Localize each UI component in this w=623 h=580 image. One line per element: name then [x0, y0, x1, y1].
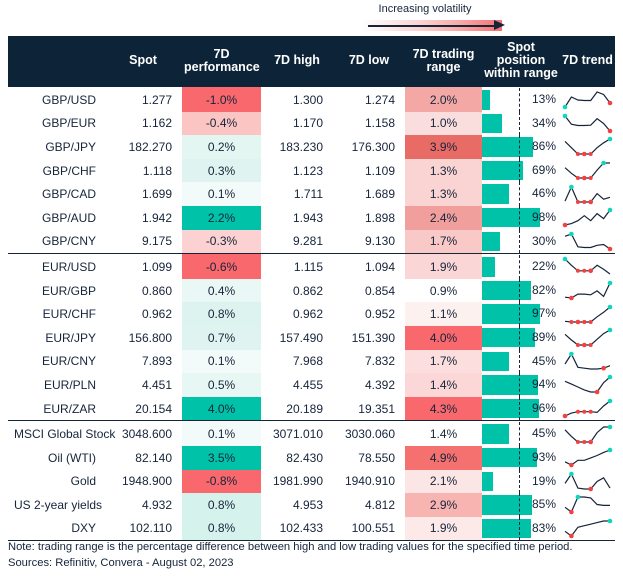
- cell-spot-position: 85%: [482, 493, 560, 517]
- cell-7d-high: 102.433: [261, 517, 333, 541]
- cell-performance: 0.1%: [182, 421, 261, 446]
- midpoint-divider: [519, 159, 520, 183]
- cell-performance: 3.5%: [182, 446, 261, 470]
- sparkline-icon: [562, 136, 613, 157]
- spot-position-label: 45%: [532, 350, 556, 374]
- cell-spot-position: 19%: [482, 470, 560, 494]
- midpoint-divider: [519, 279, 520, 303]
- row-label: GBP/CHF: [8, 159, 104, 183]
- sparkline-icon: [562, 207, 613, 228]
- cell-7d-high: 1.300: [261, 86, 333, 112]
- cell-spot-position: 83%: [482, 517, 560, 541]
- cell-spot-position: 96%: [482, 397, 560, 421]
- cell-spot: 20.154: [104, 397, 182, 421]
- row-label: GBP/CNY: [8, 230, 104, 254]
- cell-7d-low: 1940.910: [333, 470, 405, 494]
- cell-performance: 4.0%: [182, 397, 261, 421]
- column-header-name: [8, 36, 104, 86]
- cell-performance: 2.2%: [182, 206, 261, 230]
- cell-7d-trend: [560, 254, 615, 279]
- cell-performance: 0.7%: [182, 326, 261, 350]
- cell-7d-trend: [560, 135, 615, 159]
- cell-7d-trend: [560, 350, 615, 374]
- footnote-note: Note: trading range is the percentage di…: [8, 540, 618, 556]
- cell-7d-low: 1.158: [333, 112, 405, 136]
- cell-trading-range: 1.0%: [405, 112, 482, 136]
- cell-7d-high: 7.968: [261, 350, 333, 374]
- spot-position-label: 30%: [532, 230, 556, 254]
- cell-spot: 1.942: [104, 206, 182, 230]
- cell-7d-high: 157.490: [261, 326, 333, 350]
- cell-7d-high: 1.711: [261, 182, 333, 206]
- midpoint-divider: [519, 350, 520, 374]
- cell-7d-trend: [560, 421, 615, 446]
- cell-7d-high: 4.953: [261, 493, 333, 517]
- cell-performance: 0.8%: [182, 517, 261, 541]
- spot-position-label: 45%: [532, 422, 556, 446]
- cell-7d-low: 3030.060: [333, 421, 405, 446]
- column-header-spot: Spot: [104, 36, 182, 86]
- midpoint-divider: [519, 517, 520, 541]
- cell-7d-high: 0.862: [261, 279, 333, 303]
- cell-7d-low: 4.392: [333, 373, 405, 397]
- spot-position-bar: [482, 448, 537, 468]
- cell-7d-high: 82.430: [261, 446, 333, 470]
- midpoint-divider: [519, 135, 520, 159]
- spot-position-bar-wrap: 96%: [482, 397, 560, 421]
- cell-spot: 7.893: [104, 350, 182, 374]
- volatility-axis-line: [368, 25, 498, 27]
- spot-position-label: 13%: [532, 88, 556, 112]
- sparkline-icon: [562, 280, 613, 301]
- spot-position-label: 22%: [532, 255, 556, 279]
- column-header-low: 7D low: [333, 36, 405, 86]
- spot-position-label: 82%: [532, 279, 556, 303]
- spot-position-bar: [482, 424, 509, 444]
- spot-position-bar: [482, 281, 531, 301]
- spot-position-bar: [482, 184, 509, 204]
- cell-7d-trend: [560, 159, 615, 183]
- cell-spot-position: 22%: [482, 254, 560, 279]
- cell-performance: -0.3%: [182, 230, 261, 254]
- table-row[interactable]: Gold 1948.900 -0.8% 1981.990 1940.910 2.…: [8, 470, 615, 494]
- spot-position-bar-wrap: 19%: [482, 470, 560, 494]
- row-label: EUR/PLN: [8, 373, 104, 397]
- cell-spot: 4.932: [104, 493, 182, 517]
- spot-position-bar-wrap: 98%: [482, 206, 560, 230]
- spot-position-bar: [482, 399, 539, 419]
- cell-7d-low: 100.551: [333, 517, 405, 541]
- cell-7d-low: 0.952: [333, 302, 405, 326]
- spot-position-bar: [482, 328, 535, 348]
- arrow-right-icon: [494, 20, 505, 30]
- cell-spot-position: 45%: [482, 421, 560, 446]
- cell-trading-range: 1.7%: [405, 350, 482, 374]
- row-label: EUR/JPY: [8, 326, 104, 350]
- cell-performance: -0.4%: [182, 112, 261, 136]
- cell-performance: 0.1%: [182, 182, 261, 206]
- cell-7d-trend: [560, 326, 615, 350]
- table-row[interactable]: GBP/AUD 1.942 2.2% 1.943 1.898 2.4% 98%: [8, 206, 615, 230]
- cell-spot-position: 97%: [482, 302, 560, 326]
- cell-performance: -1.0%: [182, 86, 261, 112]
- cell-spot: 156.800: [104, 326, 182, 350]
- spot-position-bar: [482, 114, 502, 134]
- cell-trading-range: 1.7%: [405, 230, 482, 254]
- sparkline-icon: [562, 351, 613, 372]
- spot-position-label: 85%: [532, 493, 556, 517]
- cell-spot: 1.118: [104, 159, 182, 183]
- cell-spot: 1.699: [104, 182, 182, 206]
- column-header-performance: 7D performance: [182, 36, 261, 86]
- table-row[interactable]: EUR/USD 1.099 -0.6% 1.115 1.094 1.9% 22%: [8, 254, 615, 279]
- cell-7d-low: 78.550: [333, 446, 405, 470]
- spot-position-label: 98%: [532, 206, 556, 230]
- table-row[interactable]: EUR/JPY 156.800 0.7% 157.490 151.390 4.0…: [8, 326, 615, 350]
- cell-performance: 0.8%: [182, 493, 261, 517]
- sparkline-icon: [562, 304, 613, 325]
- spot-position-label: 83%: [532, 517, 556, 541]
- spot-position-bar-wrap: 93%: [482, 446, 560, 470]
- midpoint-divider: [519, 182, 520, 206]
- cell-trading-range: 1.1%: [405, 302, 482, 326]
- spot-position-bar: [482, 232, 500, 252]
- spot-position-bar-wrap: 83%: [482, 517, 560, 541]
- spot-position-label: 94%: [532, 373, 556, 397]
- cell-7d-high: 4.455: [261, 373, 333, 397]
- cell-spot-position: 45%: [482, 350, 560, 374]
- volatility-legend-bar: [330, 19, 520, 31]
- midpoint-divider: [519, 112, 520, 136]
- table-section-indices-commodities: MSCI Global Stock 3048.600 0.1% 3071.010…: [8, 421, 615, 541]
- column-header-trend: 7D trend: [560, 36, 615, 86]
- spot-position-label: 34%: [532, 112, 556, 136]
- row-label: GBP/EUR: [8, 112, 104, 136]
- spot-position-bar-wrap: 82%: [482, 279, 560, 303]
- spot-position-bar: [482, 257, 495, 277]
- cell-performance: 0.8%: [182, 302, 261, 326]
- cell-spot-position: 94%: [482, 373, 560, 397]
- cell-performance: 0.1%: [182, 350, 261, 374]
- cell-performance: -0.8%: [182, 470, 261, 494]
- table-row[interactable]: EUR/CNY 7.893 0.1% 7.968 7.832 1.7% 45%: [8, 350, 615, 374]
- cell-7d-low: 1.898: [333, 206, 405, 230]
- cell-spot: 1.099: [104, 254, 182, 279]
- cell-7d-trend: [560, 446, 615, 470]
- cell-performance: 0.4%: [182, 279, 261, 303]
- cell-trading-range: 3.9%: [405, 135, 482, 159]
- row-label: EUR/USD: [8, 254, 104, 279]
- cell-7d-trend: [560, 373, 615, 397]
- cell-7d-trend: [560, 279, 615, 303]
- cell-performance: 0.5%: [182, 373, 261, 397]
- cell-spot: 102.110: [104, 517, 182, 541]
- cell-7d-low: 176.300: [333, 135, 405, 159]
- table-header: Spot 7D performance 7D high 7D low 7D tr…: [8, 36, 615, 86]
- column-header-trading-range: 7D trading range: [405, 36, 482, 86]
- midpoint-divider: [519, 302, 520, 326]
- spot-position-label: 69%: [532, 159, 556, 183]
- spot-position-label: 89%: [532, 326, 556, 350]
- midpoint-divider: [519, 88, 520, 112]
- table-row[interactable]: GBP/CAD 1.699 0.1% 1.711 1.689 1.3% 46%: [8, 182, 615, 206]
- midpoint-divider: [519, 397, 520, 421]
- cell-spot: 1.162: [104, 112, 182, 136]
- cell-7d-high: 1.170: [261, 112, 333, 136]
- spot-position-label: 97%: [532, 302, 556, 326]
- spot-position-bar: [482, 472, 493, 492]
- sparkline-icon: [562, 398, 613, 419]
- spot-position-bar-wrap: 13%: [482, 88, 560, 112]
- cell-spot: 3048.600: [104, 421, 182, 446]
- cell-7d-trend: [560, 230, 615, 254]
- cell-7d-low: 4.812: [333, 493, 405, 517]
- cell-trading-range: 1.4%: [405, 421, 482, 446]
- cell-7d-low: 19.351: [333, 397, 405, 421]
- cell-7d-trend: [560, 182, 615, 206]
- cell-7d-high: 0.962: [261, 302, 333, 326]
- cell-spot: 4.451: [104, 373, 182, 397]
- cell-7d-trend: [560, 517, 615, 541]
- sparkline-icon: [562, 327, 613, 348]
- sparkline-icon: [562, 374, 613, 395]
- cell-7d-high: 20.189: [261, 397, 333, 421]
- cell-7d-low: 151.390: [333, 326, 405, 350]
- cell-7d-trend: [560, 397, 615, 421]
- cell-spot: 1948.900: [104, 470, 182, 494]
- spot-position-bar-wrap: 46%: [482, 182, 560, 206]
- cell-7d-low: 9.130: [333, 230, 405, 254]
- table-row[interactable]: GBP/CNY 9.175 -0.3% 9.281 9.130 1.7% 30%: [8, 230, 615, 254]
- cell-trading-range: 2.9%: [405, 493, 482, 517]
- row-label: EUR/CNY: [8, 350, 104, 374]
- row-label: GBP/USD: [8, 86, 104, 112]
- sparkline-icon: [562, 471, 613, 492]
- sparkline-icon: [562, 424, 613, 445]
- cell-trading-range: 1.4%: [405, 373, 482, 397]
- cell-7d-high: 3071.010: [261, 421, 333, 446]
- table-row[interactable]: GBP/USD 1.277 -1.0% 1.300 1.274 2.0% 13%: [8, 86, 615, 112]
- cell-spot: 0.962: [104, 302, 182, 326]
- cell-7d-low: 1.094: [333, 254, 405, 279]
- table-row[interactable]: EUR/GBP 0.860 0.4% 0.862 0.854 0.9% 82%: [8, 279, 615, 303]
- row-label: EUR/CHF: [8, 302, 104, 326]
- midpoint-divider: [519, 422, 520, 446]
- cell-spot-position: 13%: [482, 86, 560, 112]
- cell-spot: 0.860: [104, 279, 182, 303]
- spot-position-bar: [482, 519, 531, 539]
- cell-spot-position: 69%: [482, 159, 560, 183]
- cell-spot: 9.175: [104, 230, 182, 254]
- sparkline-icon: [562, 160, 613, 181]
- spot-position-bar-wrap: 94%: [482, 373, 560, 397]
- spot-position-bar-wrap: 34%: [482, 112, 560, 136]
- midpoint-divider: [519, 206, 520, 230]
- midpoint-divider: [519, 470, 520, 494]
- table-row[interactable]: US 2-year yields 4.932 0.8% 4.953 4.812 …: [8, 493, 615, 517]
- cell-trading-range: 0.9%: [405, 279, 482, 303]
- spot-position-bar: [482, 137, 533, 157]
- cell-7d-low: 0.854: [333, 279, 405, 303]
- spot-position-bar-wrap: 85%: [482, 493, 560, 517]
- cell-spot: 182.270: [104, 135, 182, 159]
- cell-performance: -0.6%: [182, 254, 261, 279]
- cell-7d-high: 1.943: [261, 206, 333, 230]
- spot-position-bar-wrap: 69%: [482, 159, 560, 183]
- cell-spot-position: 46%: [482, 182, 560, 206]
- column-header-high: 7D high: [261, 36, 333, 86]
- table-row[interactable]: DXY 102.110 0.8% 102.433 100.551 1.9% 83…: [8, 517, 615, 541]
- table-row[interactable]: EUR/ZAR 20.154 4.0% 20.189 19.351 4.3% 9…: [8, 397, 615, 421]
- cell-7d-trend: [560, 112, 615, 136]
- row-label: GBP/AUD: [8, 206, 104, 230]
- table-row[interactable]: MSCI Global Stock 3048.600 0.1% 3071.010…: [8, 421, 615, 446]
- spot-position-bar-wrap: 22%: [482, 255, 560, 279]
- sparkline-icon: [562, 113, 613, 134]
- table-row[interactable]: EUR/PLN 4.451 0.5% 4.455 4.392 1.4% 94%: [8, 373, 615, 397]
- spot-position-label: 96%: [532, 397, 556, 421]
- spot-position-bar-wrap: 97%: [482, 302, 560, 326]
- cell-spot-position: 34%: [482, 112, 560, 136]
- footnote-sources: Sources: Refinitiv, Convera - August 02,…: [8, 556, 618, 572]
- cell-trading-range: 1.9%: [405, 254, 482, 279]
- spot-position-bar-wrap: 89%: [482, 326, 560, 350]
- cell-spot: 82.140: [104, 446, 182, 470]
- cell-spot-position: 93%: [482, 446, 560, 470]
- midpoint-divider: [519, 255, 520, 279]
- row-label: US 2-year yields: [8, 493, 104, 517]
- table-row[interactable]: EUR/CHF 0.962 0.8% 0.962 0.952 1.1% 97%: [8, 302, 615, 326]
- footnotes: Note: trading range is the percentage di…: [8, 540, 618, 571]
- cell-7d-high: 9.281: [261, 230, 333, 254]
- sparkline-icon: [562, 256, 613, 277]
- cell-spot-position: 89%: [482, 326, 560, 350]
- spot-position-label: 46%: [532, 182, 556, 206]
- row-label: EUR/ZAR: [8, 397, 104, 421]
- table-row[interactable]: GBP/EUR 1.162 -0.4% 1.170 1.158 1.0% 34%: [8, 112, 615, 136]
- midpoint-divider: [519, 230, 520, 254]
- cell-7d-trend: [560, 86, 615, 112]
- cell-7d-high: 183.230: [261, 135, 333, 159]
- cell-trading-range: 1.3%: [405, 159, 482, 183]
- row-label: Gold: [8, 470, 104, 494]
- cell-7d-low: 1.109: [333, 159, 405, 183]
- cell-trading-range: 2.4%: [405, 206, 482, 230]
- spot-position-label: 93%: [532, 446, 556, 470]
- spot-position-bar-wrap: 45%: [482, 350, 560, 374]
- row-label: DXY: [8, 517, 104, 541]
- cell-trading-range: 2.0%: [405, 86, 482, 112]
- cell-spot-position: 98%: [482, 206, 560, 230]
- cell-7d-low: 1.274: [333, 86, 405, 112]
- spot-position-bar-wrap: 45%: [482, 422, 560, 446]
- cell-7d-trend: [560, 302, 615, 326]
- sparkline-icon: [562, 494, 613, 515]
- row-label: GBP/JPY: [8, 135, 104, 159]
- midpoint-divider: [519, 446, 520, 470]
- cell-7d-high: 1981.990: [261, 470, 333, 494]
- volatility-legend: Increasing volatility: [330, 2, 520, 34]
- cell-7d-high: 1.123: [261, 159, 333, 183]
- cell-trading-range: 4.9%: [405, 446, 482, 470]
- cell-7d-high: 1.115: [261, 254, 333, 279]
- spot-position-bar: [482, 304, 540, 324]
- row-label: GBP/CAD: [8, 182, 104, 206]
- cell-7d-trend: [560, 206, 615, 230]
- midpoint-divider: [519, 373, 520, 397]
- midpoint-divider: [519, 493, 520, 517]
- cell-7d-trend: [560, 493, 615, 517]
- sparkline-icon: [562, 184, 613, 205]
- cell-trading-range: 1.3%: [405, 182, 482, 206]
- sparkline-icon: [562, 518, 613, 539]
- midpoint-divider: [519, 326, 520, 350]
- sparkline-icon: [562, 231, 613, 252]
- spot-position-bar: [482, 352, 509, 372]
- table-header-row: Spot 7D performance 7D high 7D low 7D tr…: [8, 36, 615, 86]
- cell-trading-range: 4.0%: [405, 326, 482, 350]
- spot-position-label: 86%: [532, 135, 556, 159]
- spot-position-label: 19%: [532, 470, 556, 494]
- spot-position-bar: [482, 375, 538, 395]
- spot-position-bar-wrap: 30%: [482, 230, 560, 254]
- spot-position-bar: [482, 90, 490, 110]
- sparkline-icon: [562, 447, 613, 468]
- cell-7d-low: 1.689: [333, 182, 405, 206]
- cell-trading-range: 1.9%: [405, 517, 482, 541]
- row-label: MSCI Global Stock: [8, 421, 104, 446]
- cell-trading-range: 2.1%: [405, 470, 482, 494]
- table-row[interactable]: Oil (WTI) 82.140 3.5% 82.430 78.550 4.9%…: [8, 446, 615, 470]
- spot-position-bar-wrap: 86%: [482, 135, 560, 159]
- cell-spot: 1.277: [104, 86, 182, 112]
- spot-position-bar: [482, 161, 523, 181]
- market-data-table: Spot 7D performance 7D high 7D low 7D tr…: [8, 36, 615, 541]
- table-row[interactable]: GBP/CHF 1.118 0.3% 1.123 1.109 1.3% 69%: [8, 159, 615, 183]
- column-header-spot-position: Spot position within range: [482, 36, 560, 86]
- volatility-legend-label: Increasing volatility: [330, 2, 520, 16]
- table-row[interactable]: GBP/JPY 182.270 0.2% 183.230 176.300 3.9…: [8, 135, 615, 159]
- cell-7d-low: 7.832: [333, 350, 405, 374]
- cell-trading-range: 4.3%: [405, 397, 482, 421]
- sparkline-icon: [562, 89, 613, 110]
- table-section-gbp-pairs: GBP/USD 1.277 -1.0% 1.300 1.274 2.0% 13%…: [8, 86, 615, 254]
- table-section-eur-pairs: EUR/USD 1.099 -0.6% 1.115 1.094 1.9% 22%…: [8, 254, 615, 421]
- row-label: EUR/GBP: [8, 279, 104, 303]
- spot-position-bar: [482, 495, 532, 515]
- cell-spot-position: 86%: [482, 135, 560, 159]
- cell-spot-position: 82%: [482, 279, 560, 303]
- cell-spot-position: 30%: [482, 230, 560, 254]
- row-label: Oil (WTI): [8, 446, 104, 470]
- cell-performance: 0.2%: [182, 135, 261, 159]
- cell-performance: 0.3%: [182, 159, 261, 183]
- cell-7d-trend: [560, 470, 615, 494]
